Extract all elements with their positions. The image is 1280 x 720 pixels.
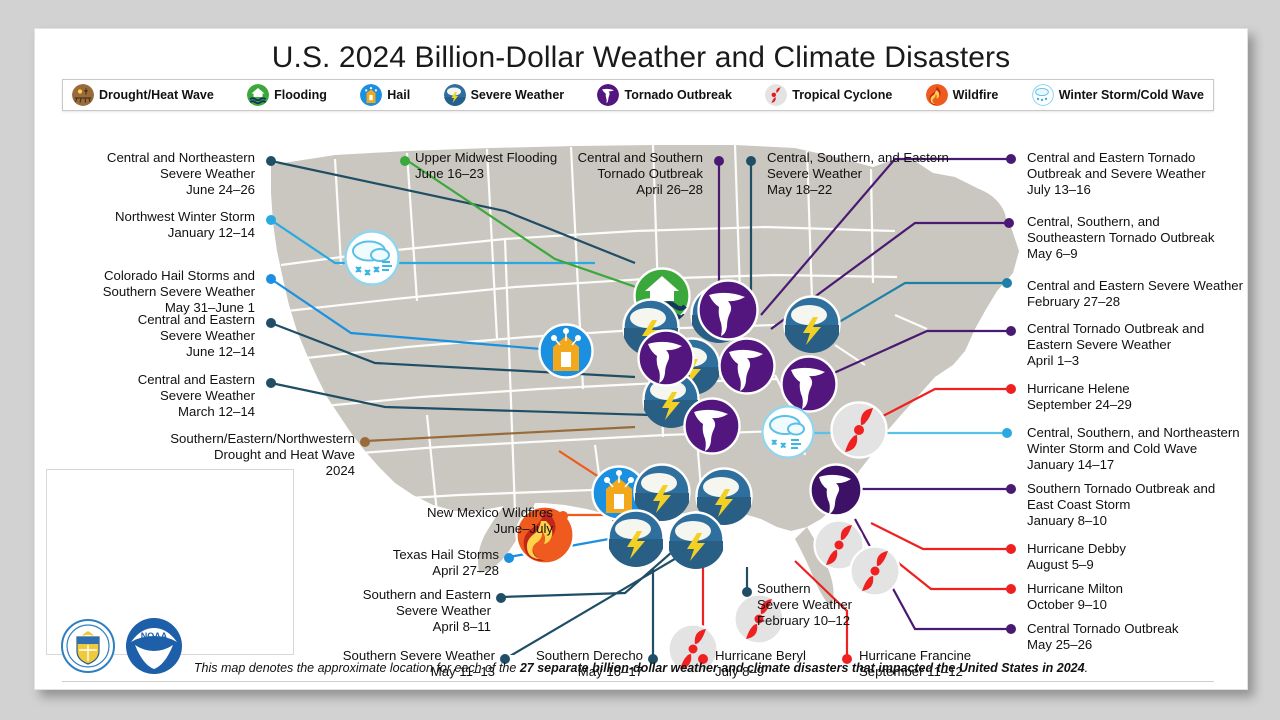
event-date: June 12–14 xyxy=(55,344,255,360)
event-name: Colorado Hail Storms and Southern Severe… xyxy=(45,268,255,300)
label-central-eastern-severe-weather-february: Central and Eastern Severe WeatherFebrua… xyxy=(1027,278,1257,310)
label-central-tornado-outbreak-april: Central Tornado Outbreak and Eastern Sev… xyxy=(1027,321,1243,368)
dot-upper-midwest-flooding[interactable] xyxy=(400,156,410,166)
legend-label: Wildfire xyxy=(953,88,999,102)
legend-item-winter-storm-cold-wave[interactable]: Winter Storm/Cold Wave xyxy=(1032,84,1204,106)
dot-winter-storm-cold-wave[interactable] xyxy=(1002,428,1012,438)
label-central-southern-southeastern-tornado: Central, Southern, and Southeastern Torn… xyxy=(1027,214,1243,261)
label-colorado-hail-storms: Colorado Hail Storms and Southern Severe… xyxy=(45,268,255,315)
label-hurricane-milton: Hurricane MiltonOctober 9–10 xyxy=(1027,581,1227,613)
legend-item-wildfire[interactable]: Wildfire xyxy=(926,84,999,106)
dot-southern-severe-weather-february[interactable] xyxy=(742,587,752,597)
label-new-mexico-wildfires: New Mexico WildfiresJune–July xyxy=(315,505,553,537)
label-central-eastern-tornado-july: Central and Eastern Tornado Outbreak and… xyxy=(1027,150,1243,197)
legend-item-severe-weather[interactable]: Severe Weather xyxy=(444,84,565,106)
hail-icon xyxy=(360,84,382,106)
legend-item-drought-heat-wave[interactable]: Drought/Heat Wave xyxy=(72,84,214,106)
event-date: August 5–9 xyxy=(1027,557,1227,573)
event-date: January 8–10 xyxy=(1027,513,1243,529)
footer-text-bold: 27 separate billion-dollar weather and c… xyxy=(520,661,1085,675)
event-date: February 27–28 xyxy=(1027,294,1257,310)
screenshot-root: U.S. 2024 Billion-Dollar Weather and Cli… xyxy=(0,0,1280,720)
event-date: April 8–11 xyxy=(305,619,491,635)
event-name: Central and Eastern Severe Weather xyxy=(55,312,255,344)
dot-hurricane-debby[interactable] xyxy=(1006,544,1016,554)
dot-new-mexico-wildfires[interactable] xyxy=(558,511,568,521)
label-southern-severe-weather-february: Southern Severe WeatherFebruary 10–12 xyxy=(757,581,957,628)
dot-central-southern-tornado-outbreak[interactable] xyxy=(714,156,724,166)
legend-label: Tornado Outbreak xyxy=(624,88,731,102)
label-southern-eastern-severe-weather: Southern and Eastern Severe WeatherApril… xyxy=(305,587,491,634)
dot-central-tornado-outbreak-april[interactable] xyxy=(1006,326,1016,336)
event-name: Central, Southern, and Southeastern Torn… xyxy=(1027,214,1243,246)
label-drought-heat-wave: Southern/Eastern/Northwestern Drought an… xyxy=(93,431,355,478)
dot-central-tornado-outbreak-may[interactable] xyxy=(1006,624,1016,634)
dot-drought-heat-wave[interactable] xyxy=(360,437,370,447)
dot-southern-eastern-severe-weather[interactable] xyxy=(496,593,506,603)
map-area: Central and Northeastern Severe WeatherJ… xyxy=(35,115,1247,655)
map-icon-hail-colorado[interactable] xyxy=(538,323,594,379)
dot-northwest-winter-storm[interactable] xyxy=(266,215,276,225)
event-name: Central, Southern, and Eastern Severe We… xyxy=(767,150,997,182)
event-name: Central Tornado Outbreak and Eastern Sev… xyxy=(1027,321,1243,353)
wildfire-icon xyxy=(926,84,948,106)
event-date: March 12–14 xyxy=(55,404,255,420)
label-central-southern-tornado-outbreak: Central and Southern Tornado OutbreakApr… xyxy=(535,150,703,197)
label-central-tornado-outbreak-may: Central Tornado OutbreakMay 25–26 xyxy=(1027,621,1227,653)
event-date: May 6–9 xyxy=(1027,246,1243,262)
dot-central-eastern-severe-weather-february[interactable] xyxy=(1002,278,1012,288)
dot-central-southern-southeastern-tornado[interactable] xyxy=(1004,218,1014,228)
drought-heat-wave-icon xyxy=(72,84,94,106)
footer-text-after: . xyxy=(1085,661,1088,675)
legend-label: Flooding xyxy=(274,88,327,102)
event-name: Southern/Eastern/Northwestern Drought an… xyxy=(93,431,355,463)
event-date: May 25–26 xyxy=(1027,637,1227,653)
dot-colorado-hail-storms[interactable] xyxy=(266,274,276,284)
event-date: April 27–28 xyxy=(315,563,499,579)
event-date: January 14–17 xyxy=(1027,457,1257,473)
event-name: Southern and Eastern Severe Weather xyxy=(305,587,491,619)
label-texas-hail-storms: Texas Hail StormsApril 27–28 xyxy=(315,547,499,579)
dot-central-southern-eastern-severe-weather[interactable] xyxy=(746,156,756,166)
infographic-card: U.S. 2024 Billion-Dollar Weather and Cli… xyxy=(34,28,1248,690)
event-date: September 24–29 xyxy=(1027,397,1243,413)
dot-central-eastern-severe-weather-march[interactable] xyxy=(266,378,276,388)
event-date: June–July xyxy=(315,521,553,537)
event-name: Hurricane Debby xyxy=(1027,541,1227,557)
event-name: Central and Eastern Severe Weather xyxy=(1027,278,1257,294)
legend-label: Winter Storm/Cold Wave xyxy=(1059,88,1204,102)
label-hurricane-debby: Hurricane DebbyAugust 5–9 xyxy=(1027,541,1227,573)
event-date: April 1–3 xyxy=(1027,353,1243,369)
event-name: Central Tornado Outbreak xyxy=(1027,621,1227,637)
label-hurricane-helene: Hurricane HeleneSeptember 24–29 xyxy=(1027,381,1243,413)
tropical-cyclone-icon xyxy=(765,84,787,106)
leader-southern-severe-weather-may xyxy=(505,547,695,655)
event-date: February 10–12 xyxy=(757,613,957,629)
event-date: January 12–14 xyxy=(55,225,255,241)
dot-central-eastern-tornado-july[interactable] xyxy=(1006,154,1016,164)
event-name: Central and Northeastern Severe Weather xyxy=(55,150,255,182)
legend-item-hail[interactable]: Hail xyxy=(360,84,410,106)
label-northwest-winter-storm: Northwest Winter StormJanuary 12–14 xyxy=(55,209,255,241)
footer-divider xyxy=(62,681,1214,682)
legend-label: Drought/Heat Wave xyxy=(99,88,214,102)
event-name: Hurricane Milton xyxy=(1027,581,1227,597)
legend-label: Tropical Cyclone xyxy=(792,88,892,102)
page-title: U.S. 2024 Billion-Dollar Weather and Cli… xyxy=(35,41,1247,75)
event-name: Central, Southern, and Northeastern Wint… xyxy=(1027,425,1257,457)
footer-note: This map denotes the approximate locatio… xyxy=(35,661,1247,675)
event-name: Northwest Winter Storm xyxy=(55,209,255,225)
label-southern-tornado-outbreak-east-coast: Southern Tornado Outbreak and East Coast… xyxy=(1027,481,1243,528)
event-name: New Mexico Wildfires xyxy=(315,505,553,521)
legend-item-tornado-outbreak[interactable]: Tornado Outbreak xyxy=(597,84,731,106)
label-central-eastern-severe-weather-march: Central and Eastern Severe WeatherMarch … xyxy=(55,372,255,419)
dot-texas-hail-storms[interactable] xyxy=(504,553,514,563)
label-winter-storm-cold-wave: Central, Southern, and Northeastern Wint… xyxy=(1027,425,1257,472)
event-date: June 24–26 xyxy=(55,182,255,198)
legend-label: Hail xyxy=(387,88,410,102)
map-icon-winter-storm-east[interactable] xyxy=(761,405,815,459)
label-central-eastern-severe-weather-june: Central and Eastern Severe WeatherJune 1… xyxy=(55,312,255,359)
event-name: Southern Severe Weather xyxy=(757,581,957,613)
event-date: October 9–10 xyxy=(1027,597,1227,613)
dot-central-eastern-severe-weather-june[interactable] xyxy=(266,318,276,328)
legend-item-flooding[interactable]: Flooding xyxy=(247,84,327,106)
map-icon-severe-weather-8[interactable] xyxy=(607,509,665,567)
map-icon-winter-storm-northwest[interactable] xyxy=(344,230,400,286)
tornado-outbreak-icon xyxy=(597,84,619,106)
map-icon-tornado-6[interactable] xyxy=(809,463,863,517)
svg-text:NOAA: NOAA xyxy=(141,631,168,641)
legend-item-tropical-cyclone[interactable]: Tropical Cyclone xyxy=(765,84,892,106)
map-icon-tornado-3[interactable] xyxy=(718,337,776,395)
legend: Drought/Heat Wave Flooding xyxy=(62,79,1214,111)
event-name: Central and Eastern Severe Weather xyxy=(55,372,255,404)
map-icon-tornado-2[interactable] xyxy=(637,329,695,387)
legend-label: Severe Weather xyxy=(471,88,565,102)
dot-southern-tornado-outbreak-east-coast[interactable] xyxy=(1006,484,1016,494)
map-icon-severe-weather-9[interactable] xyxy=(667,511,725,569)
event-name: Southern Tornado Outbreak and East Coast… xyxy=(1027,481,1243,513)
dot-hurricane-helene[interactable] xyxy=(1006,384,1016,394)
severe-weather-icon xyxy=(444,84,466,106)
dot-central-northeastern-severe-weather[interactable] xyxy=(266,156,276,166)
event-date: July 13–16 xyxy=(1027,182,1243,198)
label-central-southern-eastern-severe-weather: Central, Southern, and Eastern Severe We… xyxy=(767,150,997,197)
event-name: Hurricane Helene xyxy=(1027,381,1243,397)
event-date: 2024 xyxy=(93,463,355,479)
event-name: Texas Hail Storms xyxy=(315,547,499,563)
flooding-icon xyxy=(247,84,269,106)
footer-text-before: This map denotes the approximate locatio… xyxy=(194,661,520,675)
dot-hurricane-milton[interactable] xyxy=(1006,584,1016,594)
map-icon-tornado-5[interactable] xyxy=(683,397,741,455)
map-icon-tornado-1[interactable] xyxy=(697,279,759,341)
map-icon-hurricane-helene[interactable] xyxy=(830,401,888,459)
event-date: May 18–22 xyxy=(767,182,997,198)
map-icon-severe-weather-3[interactable] xyxy=(783,295,841,353)
event-name: Central and Eastern Tornado Outbreak and… xyxy=(1027,150,1243,182)
event-name: Central and Southern Tornado Outbreak xyxy=(535,150,703,182)
leader-hurricane-debby xyxy=(871,523,1011,549)
event-date: April 26–28 xyxy=(535,182,703,198)
winter-storm-icon xyxy=(1032,84,1054,106)
label-central-northeastern-severe-weather: Central and Northeastern Severe WeatherJ… xyxy=(55,150,255,197)
